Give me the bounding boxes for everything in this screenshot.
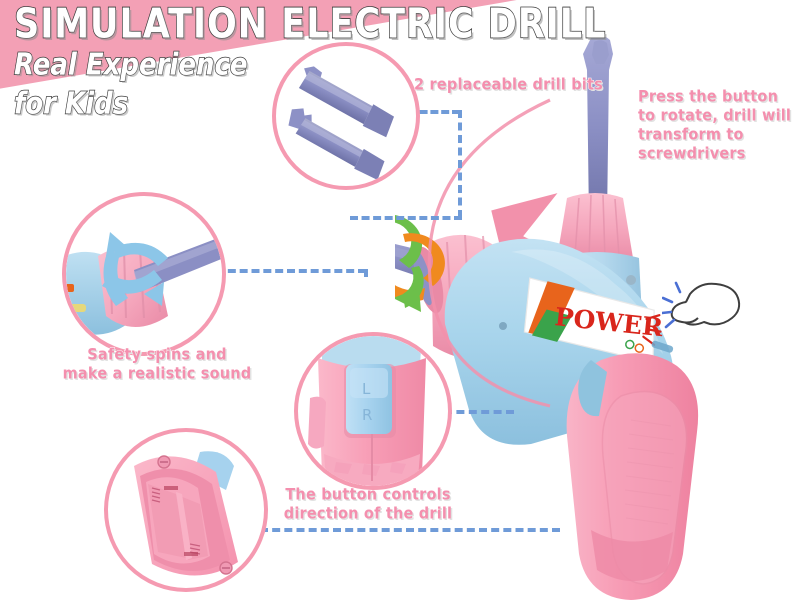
inset-safety-spin xyxy=(62,192,226,356)
safety-spin-illustration xyxy=(66,196,222,352)
direction-button-illustration: L R xyxy=(298,336,448,486)
title-block: SIMULATION ELECTRIC DRILL Real Experienc… xyxy=(14,2,606,111)
connector-safety-h xyxy=(216,269,366,273)
switch-label-l: L xyxy=(362,380,371,398)
caption-transform-line-4: screwdrivers xyxy=(638,145,791,164)
caption-transform-line-2: to rotate, drill will xyxy=(638,107,791,126)
connector-battery-h xyxy=(260,528,560,532)
switch-label-r: R xyxy=(362,406,372,424)
connector-safety-v xyxy=(364,269,368,277)
battery-compartment-illustration xyxy=(108,432,264,588)
caption-safety-line-1: Safety spins and xyxy=(62,346,252,364)
caption-direction-line-2: direction of the drill xyxy=(268,504,468,522)
infographic-canvas: SIMULATION ELECTRIC DRILL Real Experienc… xyxy=(0,0,800,600)
caption-direction-button: The button controls direction of the dri… xyxy=(268,486,468,523)
connector-bits-v xyxy=(458,110,462,218)
subtitle-line-1: Real Experience xyxy=(14,48,248,83)
caption-transform: Press the button to rotate, drill will t… xyxy=(638,88,791,164)
page-title: SIMULATION ELECTRIC DRILL xyxy=(14,2,606,47)
caption-transform-line-1: Press the button xyxy=(638,88,791,107)
connector-direction-h xyxy=(444,410,514,414)
caption-drill-bits: 2 replaceable drill bits xyxy=(414,76,603,94)
caption-direction-line-1: The button controls xyxy=(268,486,468,504)
caption-safety-line-2: make a realistic sound xyxy=(62,364,252,382)
caption-safety-spin: Safety spins and make a realistic sound xyxy=(62,346,252,383)
caption-transform-line-3: transform to xyxy=(638,126,791,145)
inset-battery-compartment xyxy=(104,428,268,592)
inset-direction-button: L R xyxy=(294,332,452,490)
connector-bits-h2 xyxy=(350,216,462,220)
pointing-hand-icon xyxy=(662,272,748,342)
